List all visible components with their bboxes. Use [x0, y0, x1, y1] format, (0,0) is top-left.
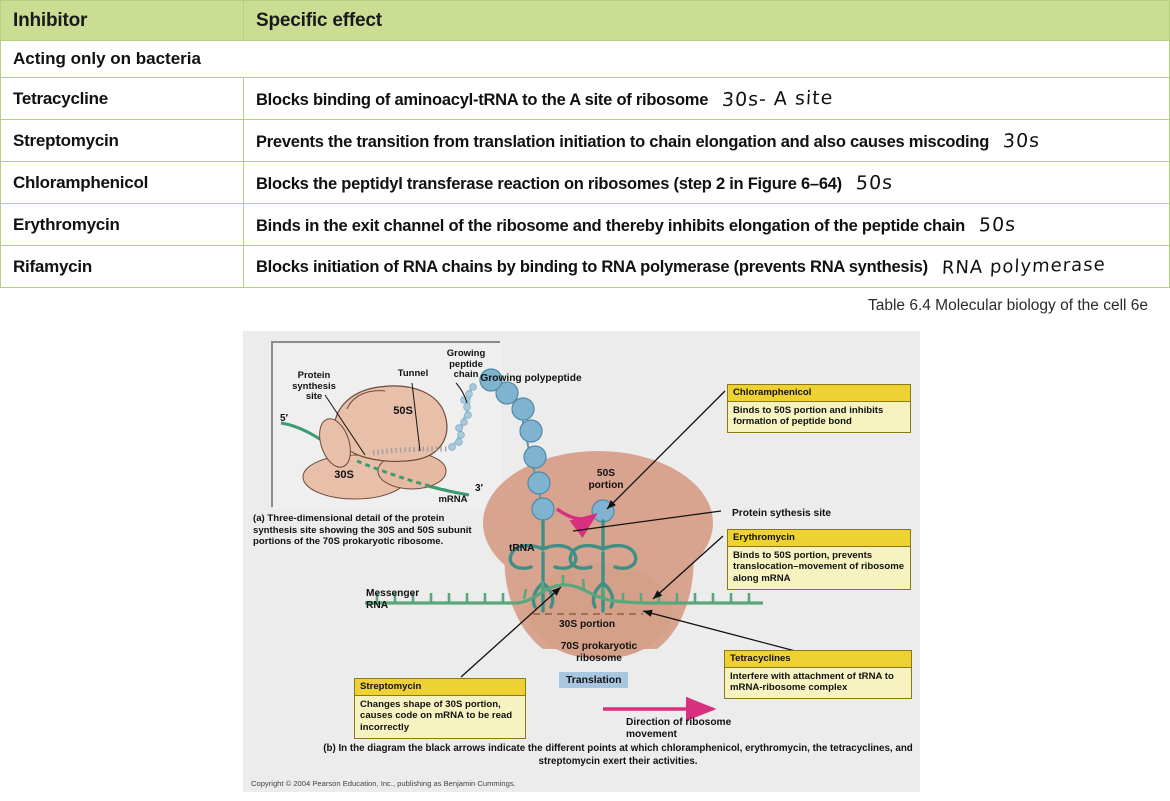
section-spacer [244, 41, 1170, 78]
label-70s-prokaryotic-ribosome: 70S prokaryoticribosome [539, 641, 659, 665]
inset-label-3-prime: 3′ [471, 483, 487, 494]
label-direction-of-ribosome-movement: Direction of ribosomemovement [626, 717, 731, 741]
table-row: Tetracycline Blocks binding of aminoacyl… [1, 78, 1170, 120]
callout-body: Binds to 50S portion and inhibits format… [728, 402, 910, 432]
cell-effect: Binds in the exit channel of the ribosom… [244, 204, 1170, 246]
callout-title: Streptomycin [355, 679, 525, 696]
column-header-inhibitor: Inhibitor [1, 1, 244, 41]
callout-streptomycin: Streptomycin Changes shape of 30S portio… [354, 678, 526, 739]
caption-b: (b) In the diagram the black arrows indi… [323, 743, 913, 768]
effect-text: Binds in the exit channel of the ribosom… [256, 217, 965, 236]
section-label: Acting only on bacteria [1, 41, 244, 78]
handwritten-annotation: 50s [855, 171, 893, 194]
inset-label-mrna: mRNA [431, 495, 475, 506]
cell-inhibitor: Erythromycin [1, 204, 244, 246]
table-header-row: Inhibitor Specific effect [1, 1, 1170, 41]
caption-a: (a) Three-dimensional detail of the prot… [253, 513, 491, 548]
inset-label-30s: 30S [329, 469, 359, 481]
table-row: Chloramphenicol Blocks the peptidyl tran… [1, 162, 1170, 204]
cell-inhibitor: Tetracycline [1, 78, 244, 120]
effect-text: Blocks the peptidyl transferase reaction… [256, 175, 842, 194]
callout-tetracyclines: Tetracyclines Interfere with attachment … [724, 650, 912, 699]
cell-inhibitor: Chloramphenicol [1, 162, 244, 204]
handwritten-annotation: 50s [978, 213, 1016, 236]
handwritten-annotation: 30s- A site [722, 86, 835, 110]
translation-badge: Translation [559, 672, 628, 688]
label-50s-portion: 50Sportion [576, 468, 636, 492]
callout-title: Chloramphenicol [728, 385, 910, 402]
effect-text: Blocks initiation of RNA chains by bindi… [256, 258, 928, 277]
callout-erythromycin: Erythromycin Binds to 50S portion, preve… [727, 529, 911, 590]
cell-inhibitor: Streptomycin [1, 120, 244, 162]
copyright-notice: Copyright © 2004 Pearson Education, Inc.… [251, 779, 516, 788]
inhibitor-table: Inhibitor Specific effect Acting only on… [0, 0, 1170, 288]
inset-panel-a: Proteinsynthesissite Tunnel Growingpepti… [271, 341, 500, 507]
inset-label-5-prime: 5′ [276, 413, 292, 424]
caption-a-text: Three-dimensional detail of the protein … [253, 513, 472, 547]
callout-title: Erythromycin [728, 530, 910, 547]
callout-title: Tetracyclines [725, 651, 911, 668]
cell-effect: Prevents the transition from translation… [244, 120, 1170, 162]
handwritten-annotation: RNA polymerase [941, 254, 1106, 278]
cell-effect: Blocks binding of aminoacyl-tRNA to the … [244, 78, 1170, 120]
cell-effect: Blocks the peptidyl transferase reaction… [244, 162, 1170, 204]
ribosome-figure: Proteinsynthesissite Tunnel Growingpepti… [243, 331, 920, 792]
callout-chloramphenicol: Chloramphenicol Binds to 50S portion and… [727, 384, 911, 433]
cell-effect: Blocks initiation of RNA chains by bindi… [244, 246, 1170, 288]
label-growing-polypeptide: Growing polypeptide [480, 373, 581, 385]
column-header-specific-effect: Specific effect [244, 1, 1170, 41]
table-row: Streptomycin Prevents the transition fro… [1, 120, 1170, 162]
cell-inhibitor: Rifamycin [1, 246, 244, 288]
callout-body: Interfere with attachment of tRNA to mRN… [725, 668, 911, 698]
inset-label-50s: 50S [388, 405, 418, 417]
label-30s-portion: 30S portion [559, 619, 615, 631]
table-row: Rifamycin Blocks initiation of RNA chain… [1, 246, 1170, 288]
callout-body: Changes shape of 30S portion, causes cod… [355, 696, 525, 738]
callout-body: Binds to 50S portion, prevents transloca… [728, 547, 910, 589]
effect-text: Blocks binding of aminoacyl-tRNA to the … [256, 91, 708, 110]
table-section-row: Acting only on bacteria [1, 41, 1170, 78]
label-messenger-rna: MessengerRNA [366, 588, 419, 612]
label-protein-synthesis-site: Protein sythesis site [732, 508, 831, 520]
inset-label-protein-synthesis-site: Proteinsynthesissite [279, 371, 349, 403]
inhibitor-table-container: Inhibitor Specific effect Acting only on… [0, 0, 1170, 288]
caption-b-text: In the diagram the black arrows indicate… [338, 743, 912, 767]
caption-b-tag: (b) [323, 743, 336, 754]
table-caption: Table 6.4 Molecular biology of the cell … [868, 297, 1148, 315]
caption-a-tag: (a) [253, 513, 265, 524]
handwritten-annotation: 30s [1002, 129, 1040, 152]
inset-label-tunnel: Tunnel [385, 369, 441, 380]
label-trna: tRNA [509, 543, 534, 555]
table-row: Erythromycin Binds in the exit channel o… [1, 204, 1170, 246]
effect-text: Prevents the transition from translation… [256, 133, 989, 152]
